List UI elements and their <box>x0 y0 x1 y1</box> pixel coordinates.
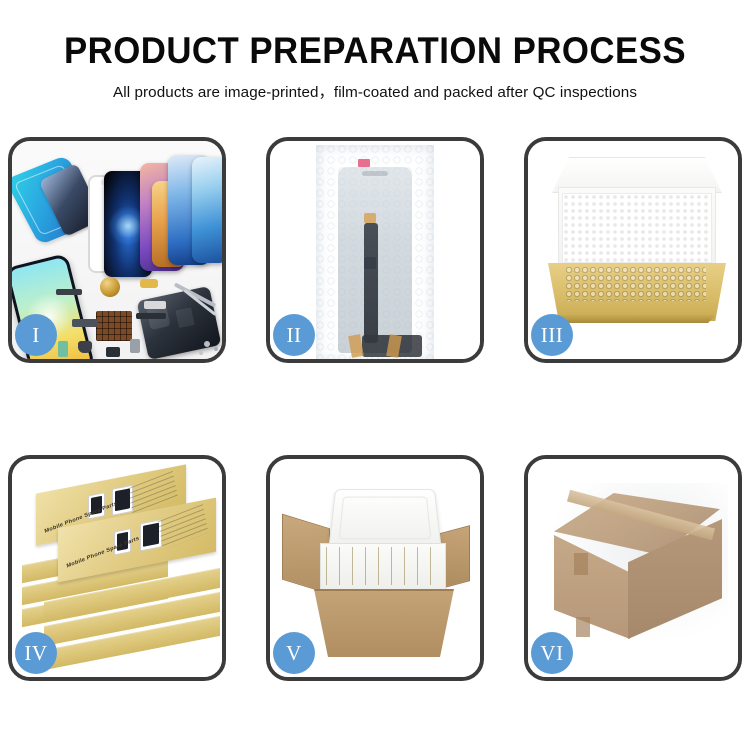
step-badge-3: III <box>531 314 573 356</box>
process-step-panel-4: Mobile Phone Spare Parts Mobile Phone Sp… <box>8 455 226 681</box>
product-preparation-infographic: PRODUCT PREPARATION PROCESS All products… <box>0 0 750 750</box>
phone-backplate-icon <box>137 286 222 359</box>
process-step-panel-6: VI <box>524 455 742 681</box>
part-connector-f <box>130 339 140 353</box>
part-connector-b <box>140 279 158 288</box>
screws-icon <box>204 341 210 347</box>
process-step-panel-1: I <box>8 137 226 363</box>
foam-sheet-icon <box>562 193 712 263</box>
step-badge-1: I <box>15 314 57 356</box>
step-badge-4: IV <box>15 632 57 674</box>
speaker-component-icon <box>100 277 120 297</box>
process-step-grid: I II <box>8 137 742 681</box>
part-connector-g <box>58 341 68 357</box>
part-connector-e <box>106 347 120 357</box>
page-subtitle: All products are image-printed，film-coat… <box>0 80 750 102</box>
flex-connector-top-icon <box>364 213 376 223</box>
part-connector-c <box>144 301 166 309</box>
step-badge-2: II <box>273 314 315 356</box>
process-step-panel-5: V <box>266 455 484 681</box>
part-connector-h <box>78 341 92 353</box>
step-badge-6: VI <box>531 632 573 674</box>
process-step-panel-3: III <box>524 137 742 363</box>
step-badge-5: V <box>273 632 315 674</box>
mailer-box-front-edge-icon <box>548 315 726 323</box>
bubble-wrapped-item-icon <box>566 267 706 301</box>
flex-cable-icon <box>364 223 378 343</box>
page-title: PRODUCT PREPARATION PROCESS <box>23 30 728 71</box>
pink-tape-icon <box>358 159 370 167</box>
box-label-b: Mobile Phone Spare Parts <box>66 536 140 570</box>
carton-front-icon <box>314 589 454 657</box>
part-connector-i <box>136 313 166 319</box>
part-connector-d <box>72 319 98 327</box>
header: PRODUCT PREPARATION PROCESS All products… <box>0 0 750 102</box>
bubble-wrap-bag-icon <box>316 145 434 359</box>
gold-boxes-inside-icon <box>326 547 438 585</box>
carton-tab-lower-icon <box>576 617 590 637</box>
phone-cyan-icon <box>192 157 222 263</box>
carton-tab-upper-icon <box>574 553 588 575</box>
box-feature-list-lines-b <box>158 504 209 550</box>
process-step-panel-2: II <box>266 137 484 363</box>
foam-box-lid-icon <box>328 489 442 549</box>
part-connector-a <box>56 289 82 295</box>
chip-board-icon <box>96 311 132 341</box>
